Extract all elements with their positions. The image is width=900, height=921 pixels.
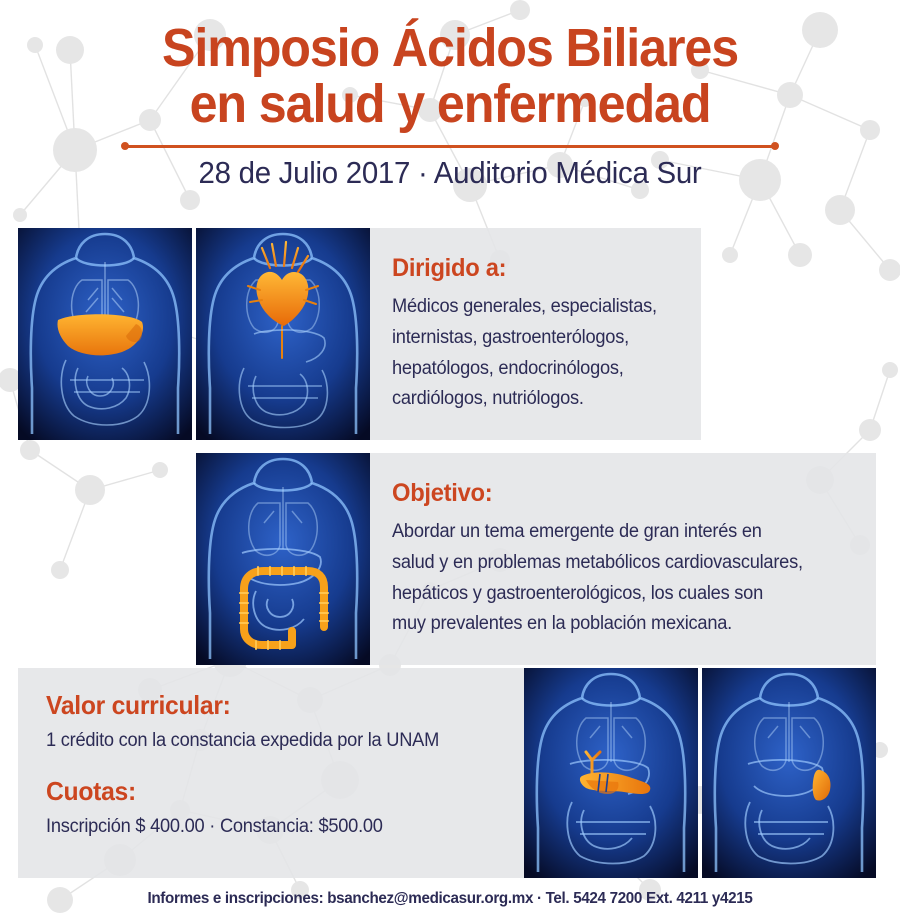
section-heading-objetivo: Objetivo:: [392, 479, 852, 508]
poster-root: Simposio Ácidos Biliares en salud y enfe…: [0, 0, 900, 921]
anatomy-image-heart: [196, 228, 370, 440]
section-heading-dirigido: Dirigido a:: [392, 254, 686, 283]
section-body-cuotas: Inscripción $ 400.00 · Constancia: $500.…: [46, 813, 505, 842]
event-date-venue: 28 de Julio 2017 · Auditorio Médica Sur: [23, 155, 878, 191]
divider-dot-right: [771, 142, 779, 150]
section-heading-valor-curricular: Valor curricular:: [46, 690, 500, 721]
divider-line: [126, 145, 774, 148]
objetivo-line: Abordar un tema emergente de gran interé…: [392, 517, 857, 548]
dirigido-line: hepatólogos, endocrinólogos,: [392, 354, 689, 385]
anatomy-image-colon: [196, 453, 370, 665]
objetivo-line: muy prevalentes en la población mexicana…: [392, 609, 857, 640]
section-valor-cuotas: Valor curricular: 1 crédito con la const…: [18, 668, 524, 878]
objetivo-line: hepáticos y gastroenterológicos, los cua…: [392, 579, 857, 610]
section-dirigido-a: Dirigido a: Médicos generales, especiali…: [370, 228, 701, 440]
dirigido-line: cardiólogos, nutriólogos.: [392, 384, 689, 415]
poster-footer: Informes e inscripciones: bsanchez@medic…: [0, 890, 900, 908]
dirigido-line: internistas, gastroenterólogos,: [392, 323, 689, 354]
page-title-line-2: en salud y enfermedad: [32, 76, 869, 132]
section-body-objetivo: Abordar un tema emergente de gran interé…: [392, 517, 857, 640]
section-spacer: [46, 756, 524, 776]
section-objetivo: Objetivo: Abordar un tema emergente de g…: [370, 453, 876, 665]
objetivo-line: salud y en problemas metabólicos cardiov…: [392, 548, 857, 579]
title-divider: [121, 141, 779, 151]
poster-header: Simposio Ácidos Biliares en salud y enfe…: [0, 0, 900, 191]
dirigido-line: Médicos generales, especialistas,: [392, 292, 689, 323]
contact-info: Informes e inscripciones: bsanchez@medic…: [23, 890, 878, 908]
section-body-valor-curricular: 1 crédito con la constancia expedida por…: [46, 727, 505, 756]
anatomy-image-liver: [18, 228, 192, 440]
page-title-line-1: Simposio Ácidos Biliares: [32, 20, 869, 76]
anatomy-image-pancreas: [524, 668, 698, 878]
section-body-dirigido: Médicos generales, especialistas, intern…: [392, 292, 689, 415]
anatomy-image-spleen: [702, 668, 876, 878]
section-heading-cuotas: Cuotas:: [46, 776, 500, 807]
